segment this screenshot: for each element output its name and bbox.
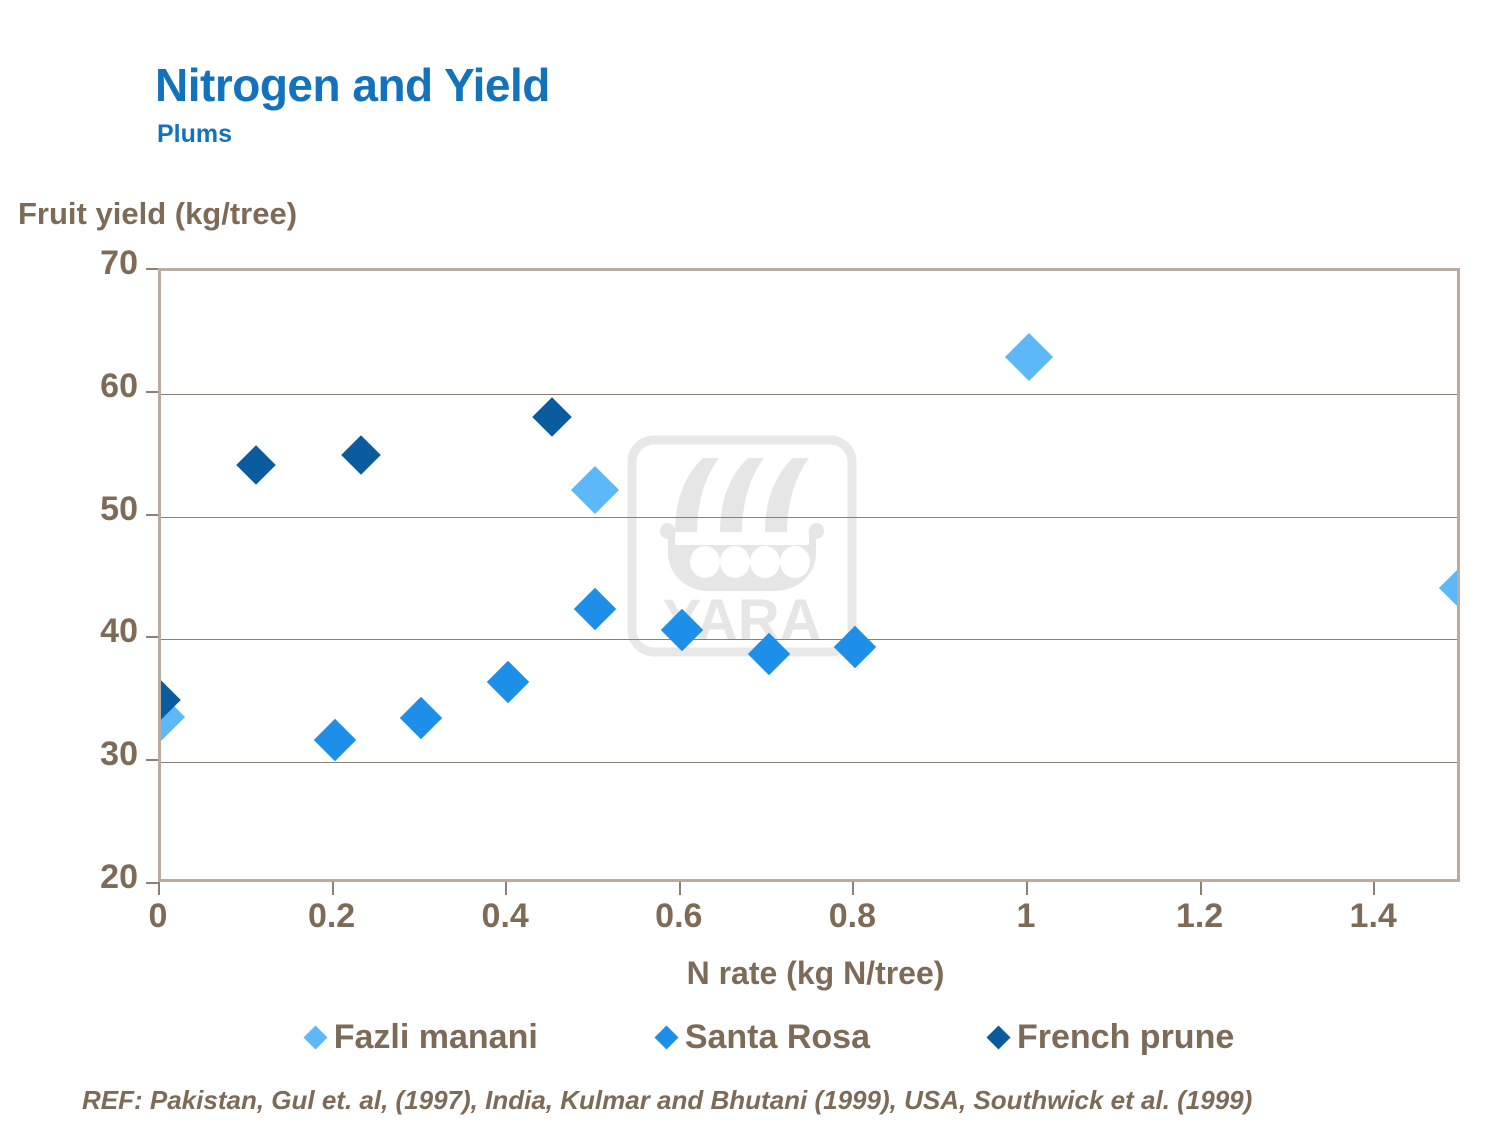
x-tick-label: 1 bbox=[966, 897, 1086, 936]
data-point bbox=[313, 719, 355, 761]
y-tick-mark bbox=[146, 882, 158, 884]
legend-item[interactable]: Santa Rosa bbox=[658, 1018, 870, 1057]
legend-item[interactable]: French prune bbox=[990, 1018, 1234, 1057]
data-point bbox=[574, 587, 616, 629]
data-point bbox=[532, 397, 572, 437]
data-point bbox=[400, 697, 442, 739]
x-tick-label: 0.6 bbox=[619, 897, 739, 936]
data-point bbox=[661, 608, 703, 650]
x-tick-mark bbox=[332, 882, 334, 895]
x-axis-title: N rate (kg N/tree) bbox=[0, 955, 1501, 992]
chart-legend: Fazli mananiSanta RosaFrench prune bbox=[0, 1018, 1501, 1057]
legend-label: Santa Rosa bbox=[685, 1018, 870, 1057]
reference-note: REF: Pakistan, Gul et. al, (1997), India… bbox=[82, 1085, 1252, 1116]
y-tick-mark bbox=[146, 268, 158, 270]
chart-subtitle: Plums bbox=[157, 120, 232, 149]
y-tick-mark bbox=[146, 636, 158, 638]
x-tick-mark bbox=[1200, 882, 1202, 895]
legend-label: French prune bbox=[1017, 1018, 1234, 1057]
x-tick-label: 1.2 bbox=[1140, 897, 1260, 936]
y-tick-label: 20 bbox=[28, 858, 138, 897]
y-tick-mark bbox=[146, 759, 158, 761]
y-tick-label: 60 bbox=[28, 367, 138, 406]
x-tick-mark bbox=[1026, 882, 1028, 895]
y-tick-label: 70 bbox=[28, 244, 138, 283]
y-tick-mark bbox=[146, 391, 158, 393]
x-tick-label: 1.4 bbox=[1313, 897, 1433, 936]
data-point bbox=[834, 626, 876, 668]
chart-title: Nitrogen and Yield bbox=[155, 58, 550, 112]
x-tick-mark bbox=[679, 882, 681, 895]
plot-inner: YARA bbox=[161, 271, 1457, 879]
legend-diamond-icon bbox=[303, 1025, 327, 1049]
x-tick-mark bbox=[852, 882, 854, 895]
data-point bbox=[487, 661, 529, 703]
legend-item[interactable]: Fazli manani bbox=[307, 1018, 538, 1057]
data-point bbox=[1439, 564, 1457, 612]
plot-area: YARA bbox=[158, 268, 1460, 882]
y-tick-label: 40 bbox=[28, 612, 138, 651]
legend-diamond-icon bbox=[986, 1025, 1010, 1049]
y-axis-title: Fruit yield (kg/tree) bbox=[18, 196, 297, 232]
y-tick-mark bbox=[146, 514, 158, 516]
legend-label: Fazli manani bbox=[334, 1018, 538, 1057]
data-point bbox=[341, 435, 381, 475]
x-tick-label: 0.8 bbox=[792, 897, 912, 936]
yara-watermark-logo: YARA bbox=[627, 435, 857, 657]
x-tick-label: 0 bbox=[98, 897, 218, 936]
gridline-y-30 bbox=[161, 762, 1457, 763]
y-tick-label: 30 bbox=[28, 735, 138, 774]
y-tick-label: 50 bbox=[28, 490, 138, 529]
gridline-y-60 bbox=[161, 394, 1457, 395]
data-point bbox=[571, 466, 619, 514]
x-tick-mark bbox=[1373, 882, 1375, 895]
data-point bbox=[1005, 333, 1053, 381]
x-tick-label: 0.4 bbox=[445, 897, 565, 936]
x-tick-label: 0.2 bbox=[272, 897, 392, 936]
data-point bbox=[237, 445, 277, 485]
gridline-y-50 bbox=[161, 517, 1457, 518]
x-tick-mark bbox=[158, 882, 160, 895]
legend-diamond-icon bbox=[654, 1025, 678, 1049]
x-tick-mark bbox=[505, 882, 507, 895]
gridline-y-40 bbox=[161, 639, 1457, 640]
